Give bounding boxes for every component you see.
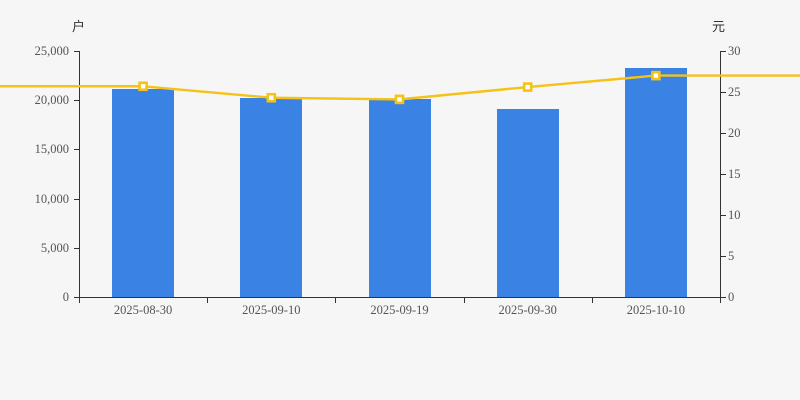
x-tick-label: 2025-09-30 [499, 303, 557, 318]
right-tick-mark [721, 174, 726, 175]
right-tick-label: 10 [728, 209, 741, 222]
left-tick-label: 20,000 [35, 94, 69, 107]
right-tick-mark [721, 51, 726, 52]
x-tick-label: 2025-09-19 [370, 303, 428, 318]
right-tick-label: 20 [728, 127, 741, 140]
right-tick-label: 25 [728, 86, 741, 99]
left-axis-unit-label: 户 [72, 16, 85, 35]
right-tick-mark [721, 92, 726, 93]
x-tick-label: 2025-08-30 [114, 303, 172, 318]
right-tick-mark [721, 256, 726, 257]
right-tick-mark [721, 297, 726, 298]
left-tick-mark [74, 100, 79, 101]
left-tick-mark [74, 248, 79, 249]
line-marker[interactable] [524, 84, 531, 91]
left-tick-label: 25,000 [35, 45, 69, 58]
bar[interactable] [625, 68, 687, 297]
x-tick-mark [79, 298, 80, 303]
bar[interactable] [240, 98, 302, 297]
left-tick-label: 0 [63, 291, 69, 304]
x-tick-mark [592, 298, 593, 303]
bar[interactable] [497, 109, 559, 297]
x-tick-mark [335, 298, 336, 303]
x-tick-label: 2025-10-10 [627, 303, 685, 318]
right-tick-mark [721, 215, 726, 216]
bar[interactable] [112, 89, 174, 297]
x-tick-label: 2025-09-10 [242, 303, 300, 318]
x-tick-mark [464, 298, 465, 303]
x-axis-line [79, 297, 721, 298]
left-axis-line [79, 51, 80, 297]
chart-container: 户 元 05,00010,00015,00020,00025,000 05101… [0, 0, 800, 400]
left-tick-label: 5,000 [41, 242, 69, 255]
left-tick-mark [74, 51, 79, 52]
right-tick-label: 30 [728, 45, 741, 58]
right-axis-unit-label: 元 [712, 16, 725, 35]
right-tick-mark [721, 133, 726, 134]
right-tick-label: 0 [728, 291, 734, 304]
bar[interactable] [369, 99, 431, 297]
x-tick-mark [207, 298, 208, 303]
left-tick-mark [74, 149, 79, 150]
left-tick-label: 15,000 [35, 143, 69, 156]
right-tick-label: 5 [728, 250, 734, 263]
right-tick-label: 15 [728, 168, 741, 181]
left-tick-label: 10,000 [35, 193, 69, 206]
left-tick-mark [74, 199, 79, 200]
x-tick-mark [720, 298, 721, 303]
